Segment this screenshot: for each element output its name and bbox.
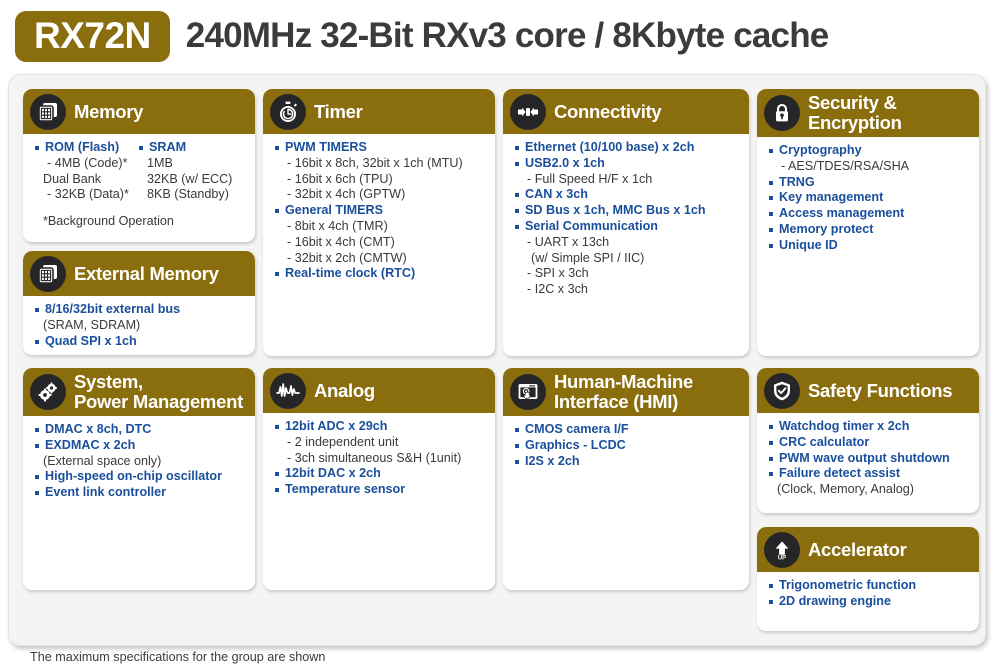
card-memory-title: Memory <box>74 102 143 122</box>
shield-check-icon <box>764 373 800 409</box>
list-item: CRC calculator <box>767 435 971 451</box>
list-item: - 16bit x 8ch, 32bit x 1ch (MTU) <box>273 156 487 172</box>
list-item: Quad SPI x 1ch <box>33 334 247 350</box>
list-item: - 32KB (Data)* <box>33 187 137 203</box>
card-memory[interactable]: Memory ROM (Flash) - 4MB (Code)* Dual Ba… <box>23 89 255 242</box>
list-item: Unique ID <box>767 238 971 254</box>
card-title-line2: Encryption <box>808 113 902 133</box>
card-safety-body: Watchdog timer x 2ch CRC calculator PWM … <box>757 413 979 504</box>
list-item: - 32bit x 4ch (GPTW) <box>273 187 487 203</box>
list-item: - AES/TDES/RSA/SHA <box>767 159 971 175</box>
list-item: Ethernet (10/100 base) x 2ch <box>513 140 741 156</box>
card-security-body: Cryptography - AES/TDES/RSA/SHA TRNG Key… <box>757 137 979 260</box>
card-connectivity-title: Connectivity <box>554 102 661 122</box>
list-item: EXDMAC x 2ch <box>33 438 247 454</box>
card-memory-body: ROM (Flash) - 4MB (Code)* Dual Bank - 32… <box>23 134 255 236</box>
card-timer[interactable]: Timer PWM TIMERS - 16bit x 8ch, 32bit x … <box>263 89 495 356</box>
page-title: 240MHz 32-Bit RXv3 core / 8Kbyte cache <box>186 16 829 56</box>
list-item: Graphics - LCDC <box>513 438 741 454</box>
list-item: - 3ch simultaneous S&H (1unit) <box>273 451 487 467</box>
list-item: Dual Bank <box>33 172 137 188</box>
card-safety-title: Safety Functions <box>808 381 952 401</box>
features-panel: Memory ROM (Flash) - 4MB (Code)* Dual Ba… <box>8 74 986 646</box>
list-item: Serial Communication <box>513 219 741 235</box>
memory-chip-icon <box>30 256 66 292</box>
memory-column-rom: ROM (Flash) - 4MB (Code)* Dual Bank - 32… <box>33 140 137 203</box>
list-item: I2S x 2ch <box>513 454 741 470</box>
card-accelerator-body: Trigonometric function 2D drawing engine <box>757 572 979 616</box>
card-security-encryption[interactable]: Security & Encryption Cryptography - AES… <box>757 89 979 356</box>
memory-chip-icon <box>30 94 66 130</box>
up-arrow-icon: UP <box>764 532 800 568</box>
list-item: Real-time clock (RTC) <box>273 266 487 282</box>
card-human-machine-interface[interactable]: Human-Machine Interface (HMI) CMOS camer… <box>503 368 749 590</box>
list-item: PWM TIMERS <box>273 140 487 156</box>
card-external-memory-title: External Memory <box>74 264 219 284</box>
list-item: DMAC x 8ch, DTC <box>33 422 247 438</box>
list-item: - 16bit x 4ch (CMT) <box>273 235 487 251</box>
list-item: SRAM <box>137 140 232 156</box>
list-item: Key management <box>767 190 971 206</box>
list-item: CAN x 3ch <box>513 187 741 203</box>
card-system-power-header: System, Power Management <box>23 368 255 416</box>
footnote-text: The maximum specifications for the group… <box>30 650 325 664</box>
list-item: Access management <box>767 206 971 222</box>
card-title-line2: Power Management <box>74 392 243 412</box>
card-system-power-management[interactable]: System, Power Management DMAC x 8ch, DTC… <box>23 368 255 590</box>
card-accelerator-title: Accelerator <box>808 540 907 560</box>
card-hmi-header: Human-Machine Interface (HMI) <box>503 368 749 416</box>
card-title-line1: Security & <box>808 93 902 113</box>
card-connectivity-body: Ethernet (10/100 base) x 2ch USB2.0 x 1c… <box>503 134 749 304</box>
card-safety-header: Safety Functions <box>757 368 979 413</box>
list-item: 32KB (w/ ECC) <box>137 172 232 188</box>
list-item: Failure detect assist <box>767 466 971 482</box>
list-item: - I2C x 3ch <box>513 282 741 298</box>
list-item: - SPI x 3ch <box>513 266 741 282</box>
card-analog-body: 12bit ADC x 29ch - 2 independent unit - … <box>263 413 495 504</box>
card-connectivity-header: Connectivity <box>503 89 749 134</box>
list-item: (SRAM, SDRAM) <box>33 318 247 334</box>
page-header: RX72N 240MHz 32-Bit RXv3 core / 8Kbyte c… <box>0 0 1000 72</box>
card-memory-header: Memory <box>23 89 255 134</box>
list-item: Watchdog timer x 2ch <box>767 419 971 435</box>
card-title-line2: Interface (HMI) <box>554 392 693 412</box>
lock-icon <box>764 95 800 131</box>
memory-column-sram: SRAM 1MB 32KB (w/ ECC) 8KB (Standby) <box>137 140 232 203</box>
list-item: Cryptography <box>767 143 971 159</box>
card-external-memory[interactable]: External Memory 8/16/32bit external bus … <box>23 251 255 355</box>
list-item: Trigonometric function <box>767 578 971 594</box>
list-item: (External space only) <box>33 454 247 470</box>
list-item: SD Bus x 1ch, MMC Bus x 1ch <box>513 203 741 219</box>
waveform-icon <box>270 373 306 409</box>
list-item: - 2 independent unit <box>273 435 487 451</box>
card-system-power-body: DMAC x 8ch, DTC EXDMAC x 2ch (External s… <box>23 416 255 507</box>
card-connectivity[interactable]: Connectivity Ethernet (10/100 base) x 2c… <box>503 89 749 356</box>
list-item: 12bit ADC x 29ch <box>273 419 487 435</box>
list-item: Memory protect <box>767 222 971 238</box>
list-item: ROM (Flash) <box>33 140 137 156</box>
card-security-title: Security & Encryption <box>808 93 902 133</box>
touchscreen-hand-icon <box>510 374 546 410</box>
list-item: USB2.0 x 1ch <box>513 156 741 172</box>
list-item: (Clock, Memory, Analog) <box>767 482 971 498</box>
list-item: 2D drawing engine <box>767 594 971 610</box>
list-item: - Full Speed H/F x 1ch <box>513 172 741 188</box>
list-item: PWM wave output shutdown <box>767 451 971 467</box>
card-safety-functions[interactable]: Safety Functions Watchdog timer x 2ch CR… <box>757 368 979 513</box>
list-item: General TIMERS <box>273 203 487 219</box>
card-title-line1: Human-Machine <box>554 372 693 392</box>
list-item: High-speed on-chip oscillator <box>33 469 247 485</box>
card-security-header: Security & Encryption <box>757 89 979 137</box>
list-item: 8KB (Standby) <box>137 187 232 203</box>
list-item: 12bit DAC x 2ch <box>273 466 487 482</box>
memory-footnote: *Background Operation <box>33 214 247 230</box>
card-hmi-body: CMOS camera I/F Graphics - LCDC I2S x 2c… <box>503 416 749 475</box>
card-accelerator-header: UP Accelerator <box>757 527 979 572</box>
card-system-power-title: System, Power Management <box>74 372 243 412</box>
plug-connector-icon <box>510 94 546 130</box>
card-external-memory-body: 8/16/32bit external bus (SRAM, SDRAM) Qu… <box>23 296 255 355</box>
list-item: Event link controller <box>33 485 247 501</box>
card-title-line1: System, <box>74 372 243 392</box>
card-analog-header: Analog <box>263 368 495 413</box>
card-accelerator[interactable]: UP Accelerator Trigonometric function 2D… <box>757 527 979 631</box>
gears-icon <box>30 374 66 410</box>
list-item: Temperature sensor <box>273 482 487 498</box>
card-analog-title: Analog <box>314 381 375 401</box>
list-item: - 32bit x 2ch (CMTW) <box>273 251 487 267</box>
card-timer-header: Timer <box>263 89 495 134</box>
list-item: - 16bit x 6ch (TPU) <box>273 172 487 188</box>
list-item: TRNG <box>767 175 971 191</box>
list-item: 1MB <box>137 156 232 172</box>
stopwatch-icon <box>270 94 306 130</box>
list-item: (w/ Simple SPI / IIC) <box>513 251 741 267</box>
list-item: CMOS camera I/F <box>513 422 741 438</box>
list-item: 8/16/32bit external bus <box>33 302 247 318</box>
card-timer-body: PWM TIMERS - 16bit x 8ch, 32bit x 1ch (M… <box>263 134 495 288</box>
svg-text:UP: UP <box>778 555 786 561</box>
card-hmi-title: Human-Machine Interface (HMI) <box>554 372 693 412</box>
card-timer-title: Timer <box>314 102 363 122</box>
card-analog[interactable]: Analog 12bit ADC x 29ch - 2 independent … <box>263 368 495 590</box>
list-item: - 8bit x 4ch (TMR) <box>273 219 487 235</box>
chip-name-badge: RX72N <box>15 11 170 62</box>
list-item: - UART x 13ch <box>513 235 741 251</box>
card-external-memory-header: External Memory <box>23 251 255 296</box>
list-item: - 4MB (Code)* <box>33 156 137 172</box>
